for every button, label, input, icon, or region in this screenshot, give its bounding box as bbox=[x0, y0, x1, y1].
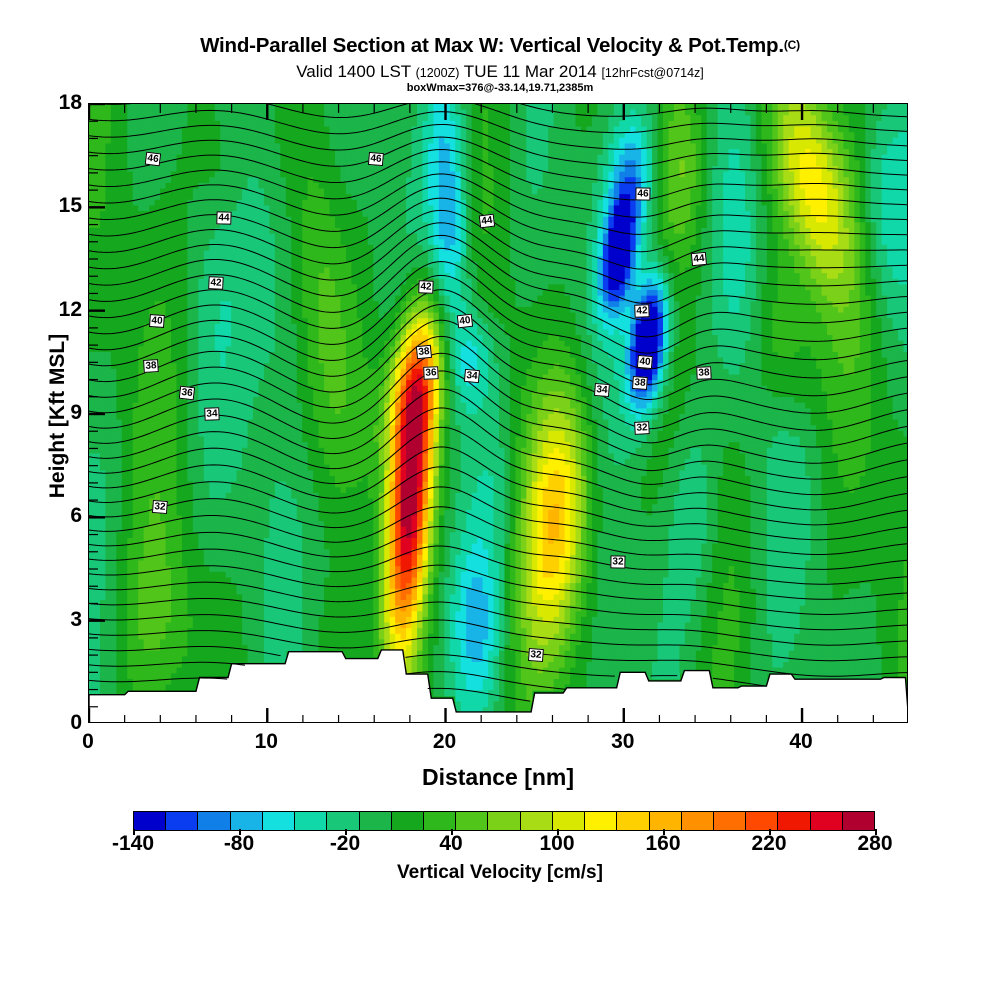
x-tick-label: 40 bbox=[771, 730, 831, 754]
y-axis-label: Height [Kft MSL] bbox=[46, 106, 70, 726]
colorbar-tick-label: -20 bbox=[300, 832, 390, 856]
chart-title-line1: Wind-Parallel Section at Max W: Vertical… bbox=[0, 34, 1000, 58]
colorbar-tick-label: -80 bbox=[194, 832, 284, 856]
colorbar-swatch bbox=[327, 812, 359, 830]
chart-page: Wind-Parallel Section at Max W: Vertical… bbox=[0, 0, 1000, 1000]
colorbar-label: Vertical Velocity [cm/s] bbox=[0, 862, 1000, 884]
colorbar-swatch bbox=[424, 812, 456, 830]
x-axis-label: Distance [nm] bbox=[88, 764, 908, 791]
colorbar-swatch bbox=[778, 812, 810, 830]
contour-label: 42 bbox=[208, 276, 224, 290]
colorbar-tick-label: 40 bbox=[406, 832, 496, 856]
contour-label: 32 bbox=[528, 648, 544, 662]
x-axis-ticks: 010203040 bbox=[88, 730, 908, 760]
colorbar bbox=[133, 811, 875, 831]
colorbar-tick-label: 280 bbox=[830, 832, 920, 856]
colorbar-tick-label: 220 bbox=[724, 832, 814, 856]
colorbar-tick-label: 160 bbox=[618, 832, 708, 856]
chart-title-line3: boxWmax=376@-33.14,19.71,2385m bbox=[0, 82, 1000, 94]
colorbar-swatch bbox=[134, 812, 166, 830]
colorbar-tick-label: -140 bbox=[88, 832, 178, 856]
colorbar-swatch bbox=[488, 812, 520, 830]
chart-title-line2: Valid 1400 LST (1200Z) TUE 11 Mar 2014 [… bbox=[0, 62, 1000, 82]
x-tick-label: 20 bbox=[415, 730, 475, 754]
colorbar-swatch bbox=[263, 812, 295, 830]
colorbar-swatch bbox=[553, 812, 585, 830]
plot-area: 4646464444444242424040403838383836363434… bbox=[88, 103, 908, 723]
colorbar-swatch bbox=[166, 812, 198, 830]
contour-label: 40 bbox=[149, 314, 165, 328]
contour-label: 34 bbox=[594, 383, 610, 397]
contour-label: 46 bbox=[636, 187, 651, 200]
x-tick-label: 0 bbox=[58, 730, 118, 754]
colorbar-swatch bbox=[617, 812, 649, 830]
colorbar-ticks: -140-80-2040100160220280 bbox=[133, 832, 875, 860]
colorbar-swatch bbox=[392, 812, 424, 830]
colorbar-swatch bbox=[650, 812, 682, 830]
colorbar-swatch bbox=[714, 812, 746, 830]
colorbar-swatch bbox=[585, 812, 617, 830]
colorbar-swatch bbox=[198, 812, 230, 830]
colorbar-swatch bbox=[682, 812, 714, 830]
contour-label: 36 bbox=[179, 386, 195, 401]
contour-label: 42 bbox=[634, 304, 650, 318]
contour-label: 32 bbox=[611, 556, 626, 569]
valid-time-text: Valid 1400 LST bbox=[296, 62, 415, 81]
colorbar-swatch bbox=[295, 812, 327, 830]
contour-label: 34 bbox=[464, 369, 480, 383]
contour-label: 32 bbox=[152, 500, 168, 514]
valid-date-text: TUE 11 Mar 2014 bbox=[459, 62, 601, 81]
contour-label: 38 bbox=[143, 359, 159, 373]
contour-label: 42 bbox=[418, 280, 434, 294]
contour-label: 34 bbox=[204, 407, 220, 421]
contour-label: 38 bbox=[632, 376, 648, 390]
colorbar-swatch bbox=[746, 812, 778, 830]
contour-label: 36 bbox=[423, 366, 439, 380]
contour-label: 40 bbox=[457, 314, 473, 329]
colorbar-swatch bbox=[456, 812, 488, 830]
contour-label: 44 bbox=[478, 214, 495, 229]
chart-title-main: Wind-Parallel Section at Max W: Vertical… bbox=[200, 34, 784, 57]
x-tick-label: 30 bbox=[593, 730, 653, 754]
contour-label: 46 bbox=[368, 152, 384, 166]
contour-label: 40 bbox=[637, 355, 653, 369]
contour-label: 44 bbox=[217, 211, 232, 224]
colorbar-swatch bbox=[843, 812, 874, 830]
x-tick-label: 10 bbox=[236, 730, 296, 754]
copyright-mark: (C) bbox=[784, 38, 800, 52]
colorbar-swatch bbox=[231, 812, 263, 830]
colorbar-tick-label: 100 bbox=[512, 832, 602, 856]
valid-time-utc: (1200Z) bbox=[416, 66, 460, 80]
colorbar-swatch bbox=[360, 812, 392, 830]
contour-label: 38 bbox=[696, 366, 712, 380]
contour-label: 44 bbox=[690, 252, 706, 266]
colorbar-swatch bbox=[521, 812, 553, 830]
contour-label: 38 bbox=[416, 345, 432, 359]
contour-label: 46 bbox=[145, 152, 162, 167]
colorbar-swatch bbox=[811, 812, 843, 830]
contour-label: 32 bbox=[634, 421, 650, 435]
forecast-hour-text: [12hrFcst@0714z] bbox=[601, 66, 703, 80]
